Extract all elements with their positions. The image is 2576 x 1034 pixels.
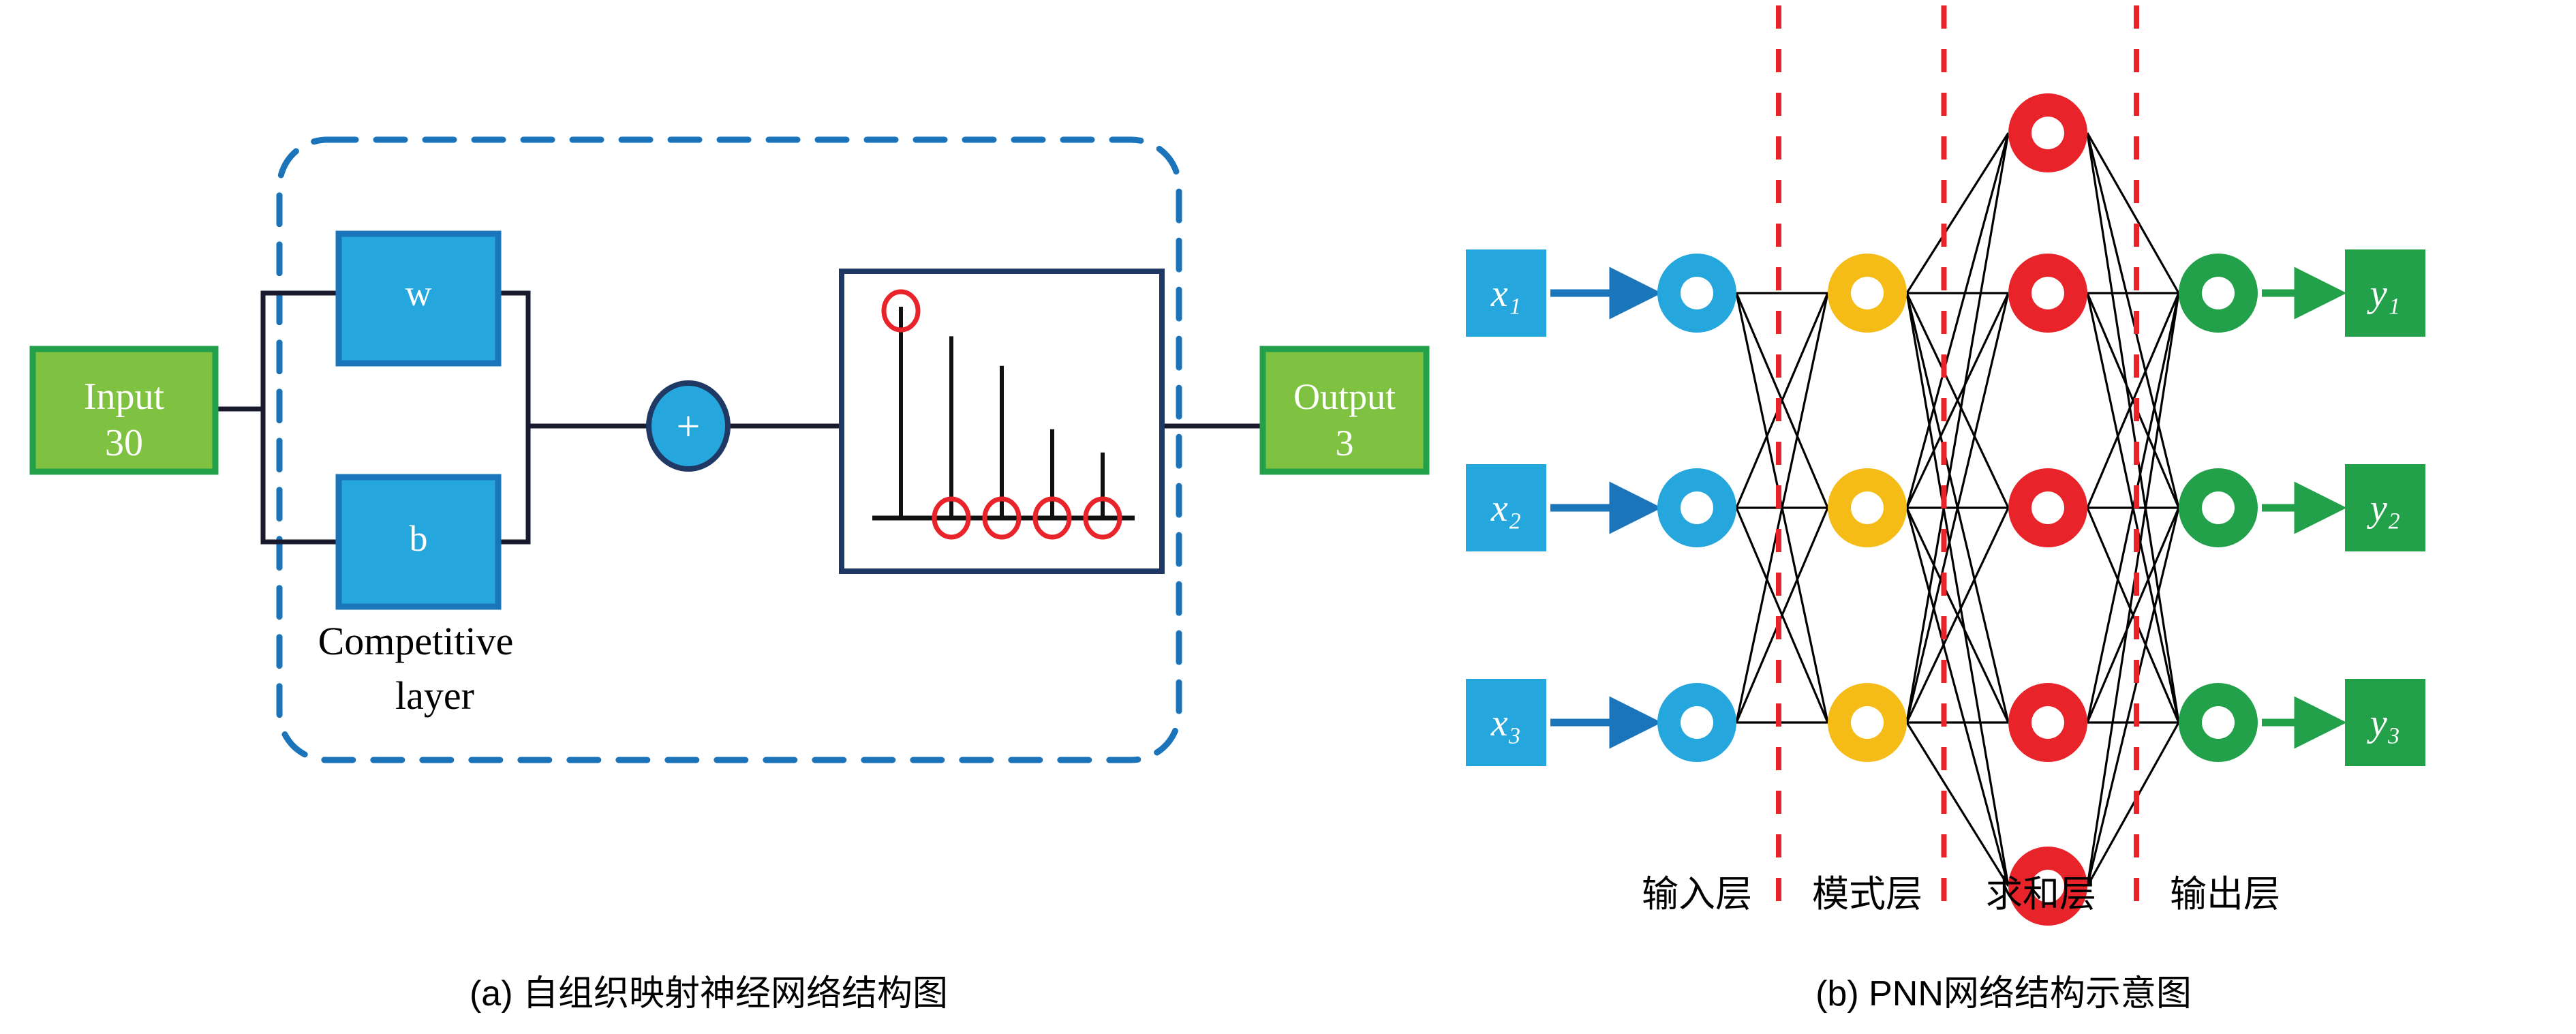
pnn-pattern-node-hole bbox=[1851, 277, 1884, 309]
pnn-connection-edges bbox=[1736, 133, 2179, 886]
pnn-summation-node-hole bbox=[2031, 117, 2064, 149]
pnn-output-node-hole bbox=[2202, 706, 2235, 739]
pnn-summation-node-hole bbox=[2031, 706, 2064, 739]
pnn-input-box-label: x₃ bbox=[1490, 702, 1521, 744]
panel-b-caption: (b) PNN网络结构示意图 bbox=[1815, 974, 2192, 1014]
weight-box-label: w bbox=[405, 273, 432, 314]
pnn-layer-labels: 输入层模式层求和层输出层 bbox=[1642, 874, 2280, 915]
wire-weight-to-sum bbox=[498, 293, 528, 426]
bias-box-label: b bbox=[410, 518, 428, 559]
pnn-edge bbox=[2087, 133, 2179, 723]
pnn-summation-node-hole bbox=[2031, 277, 2064, 309]
pnn-edge bbox=[1907, 133, 2008, 508]
pnn-edge bbox=[1907, 133, 2008, 723]
weight-box: w bbox=[339, 234, 498, 363]
pnn-edge bbox=[2087, 293, 2179, 886]
sum-node: + bbox=[649, 383, 728, 469]
pnn-pattern-node-hole bbox=[1851, 491, 1884, 524]
pnn-input-node-hole bbox=[1681, 277, 1713, 309]
pnn-output-node-hole bbox=[2202, 491, 2235, 524]
pnn-output-box-label: y₂ bbox=[2367, 487, 2400, 530]
pnn-input-node-hole bbox=[1681, 706, 1713, 739]
panel-som-diagram: Input 30 w b + bbox=[0, 0, 1431, 1034]
pnn-output-node-hole bbox=[2202, 277, 2235, 309]
input-box-label-line1: Input bbox=[84, 376, 165, 418]
pnn-edge bbox=[1907, 293, 2008, 886]
pnn-input-box-label: x₁ bbox=[1490, 273, 1521, 315]
sum-node-label: + bbox=[677, 404, 701, 450]
pnn-summation-node-hole bbox=[2031, 491, 2064, 524]
panel-a-caption: (a) 自组织映射神经网络结构图 bbox=[470, 974, 948, 1014]
pnn-output-box-label: y₃ bbox=[2367, 702, 2400, 744]
pnn-output-boxes: y₁y₂y₃ bbox=[2262, 249, 2425, 766]
wire-input-to-bias bbox=[263, 409, 339, 542]
pnn-edge bbox=[2087, 133, 2179, 508]
stem-plot bbox=[842, 271, 1162, 571]
input-box: Input 30 bbox=[33, 349, 215, 472]
competitive-layer-label-line1: Competitive bbox=[318, 619, 514, 663]
output-box-label-line2: 3 bbox=[1336, 423, 1354, 463]
pnn-output-box-label: y₁ bbox=[2367, 273, 2400, 315]
som-svg: Input 30 w b + bbox=[0, 0, 1431, 1034]
pnn-layer-label-1: 输入层 bbox=[1642, 874, 1752, 915]
pnn-pattern-node-hole bbox=[1851, 706, 1884, 739]
panel-pnn-diagram: x₁x₂x₃ y₁y₂y₃ 输入层模式层求和层输出层 (b) PNN网络结构示意… bbox=[1431, 0, 2576, 1034]
input-box-label-line2: 30 bbox=[105, 422, 143, 464]
pnn-edge bbox=[2087, 133, 2179, 293]
output-box-label-line1: Output bbox=[1293, 376, 1396, 417]
pnn-input-node-hole bbox=[1681, 491, 1713, 524]
pnn-edge bbox=[1907, 723, 2008, 886]
competitive-layer-label-line2: layer bbox=[395, 673, 474, 718]
pnn-svg: x₁x₂x₃ y₁y₂y₃ 输入层模式层求和层输出层 (b) PNN网络结构示意… bbox=[1431, 0, 2576, 1034]
pnn-input-box-label: x₂ bbox=[1490, 487, 1521, 530]
output-box: Output 3 bbox=[1263, 349, 1426, 472]
wire-bias-to-sum bbox=[498, 426, 528, 542]
pnn-layer-label-3: 求和层 bbox=[1986, 874, 2096, 915]
pnn-layer-label-2: 模式层 bbox=[1812, 874, 1922, 915]
pnn-layer-label-4: 输出层 bbox=[2170, 874, 2280, 915]
pnn-edge bbox=[1907, 508, 2008, 886]
pnn-edge bbox=[1907, 133, 2008, 293]
bias-box: b bbox=[339, 477, 498, 607]
pnn-input-boxes: x₁x₂x₃ bbox=[1466, 249, 1651, 766]
pnn-edge bbox=[2087, 508, 2179, 886]
